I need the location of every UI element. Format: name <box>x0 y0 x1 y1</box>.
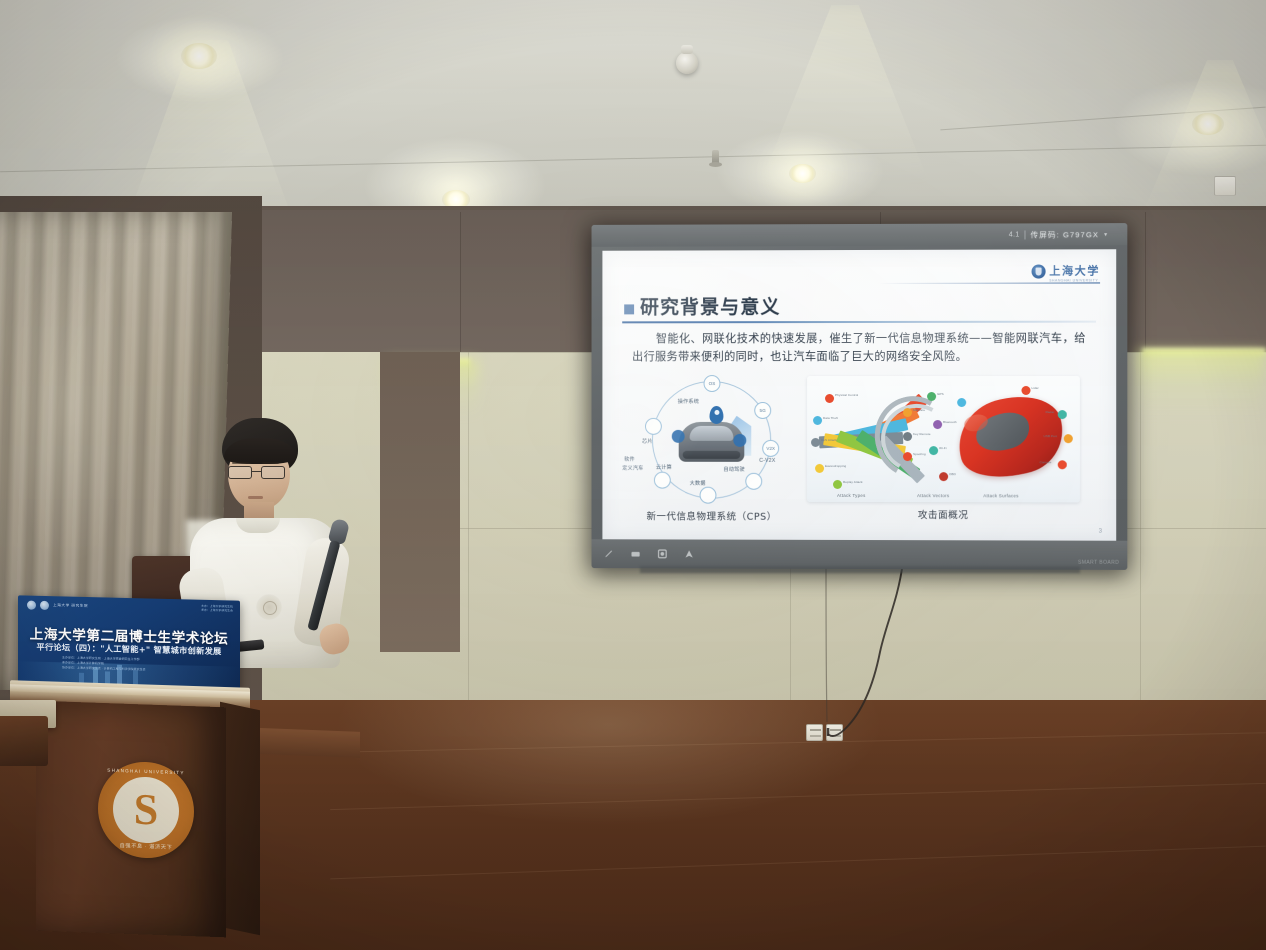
cps-label-cloud: 云计算 <box>656 464 672 471</box>
display-brand-tag: SMART BOARD <box>1078 560 1119 566</box>
hair-fringe <box>224 438 296 464</box>
cursor-icon[interactable] <box>684 548 695 559</box>
ceiling-downlight <box>1192 113 1224 135</box>
display-screen[interactable]: 上海大学 SHANGHAI UNIVERSITY 研究背景与意义 智能化、网联化… <box>602 249 1116 540</box>
banner-meta: 主办单位：上海大学研究生院 · 上海大学党委研究生工作部 承办单位：上海大学计算… <box>62 655 146 672</box>
attack-node-dot <box>903 432 912 441</box>
attack-label: Console <box>1040 460 1052 464</box>
attack-node-dot <box>813 416 822 425</box>
header-rule <box>879 282 1100 284</box>
podium: 上海大学 研究生院 主办：上海大学研究生院 承办：上海大学研究生会 上海大学第二… <box>0 588 356 950</box>
banner-left-logos: 上海大学 研究生院 <box>27 601 88 611</box>
attack-node-dot <box>933 420 942 429</box>
side-chair <box>0 716 48 766</box>
display-status-bar: 4.1 传屏码: G797GX ▾ <box>592 223 1128 247</box>
led-glow <box>1136 350 1266 416</box>
attack-axis-label: Attack Types <box>837 493 866 498</box>
shanghai-university-emblem-icon <box>1031 265 1045 279</box>
pen-icon[interactable] <box>603 548 614 559</box>
attack-label: Physical Control <box>835 393 858 397</box>
slide-figures: OS 5G V2X 操作系统 芯片 软件 定义汽车 云计算 <box>618 376 1100 524</box>
wall-panel-seam <box>460 212 461 362</box>
attack-node-dot <box>815 464 824 473</box>
ceiling-downlight <box>181 43 217 69</box>
attack-node-dot <box>929 446 938 455</box>
glasses-lens <box>228 466 252 479</box>
wall-column <box>380 352 460 652</box>
cps-node-chip <box>645 418 662 435</box>
cps-node-bigdata <box>700 487 717 504</box>
seal-inner-disc: S <box>113 776 179 844</box>
attack-label: Wi-Fi <box>939 446 947 450</box>
ceiling-downlight <box>789 164 816 183</box>
attack-node-dot <box>1064 434 1073 443</box>
cast-code-label: 传屏码: G797GX <box>1031 229 1099 240</box>
figure-attack-surface: Physical Control Data Theft DoS Attack E… <box>807 376 1080 522</box>
attack-label: Replay Attack <box>843 480 863 484</box>
attack-label: Eavesdropping <box>825 464 846 468</box>
university-logo: 上海大学 SHANGHAI UNIVERSITY <box>1031 261 1100 282</box>
forum-banner: 上海大学 研究生院 主办：上海大学研究生院 承办：上海大学研究生会 上海大学第二… <box>18 595 240 692</box>
signal-strength-label: 4.1 <box>1009 231 1020 238</box>
attack-node-dot <box>903 408 912 417</box>
attack-node-dot <box>1021 386 1030 395</box>
cps-label-autodrive: 自动驾驶 <box>723 466 744 473</box>
wall-outlet[interactable] <box>826 724 843 741</box>
figure-cps: OS 5G V2X 操作系统 芯片 软件 定义汽车 云计算 <box>624 376 799 523</box>
slide-title-row: 研究背景与意义 <box>618 291 1100 319</box>
cps-badge-wheel <box>733 434 746 447</box>
slide-body-text: 智能化、网联化技术的快速发展，催生了新一代信息物理系统——智能网联汽车，给出行服… <box>632 329 1086 366</box>
attack-label: OBD <box>949 472 956 476</box>
motion-sensor-icon <box>1214 176 1236 196</box>
attack-node-dot <box>825 394 834 403</box>
smart-display[interactable]: 4.1 传屏码: G797GX ▾ 上海大学 SHANGHAI UNIVERSI… <box>592 223 1128 570</box>
attack-axis-label: Attack Vectors <box>917 493 949 498</box>
attack-node-dot <box>957 398 966 407</box>
cps-label-chip: 芯片 <box>642 438 653 445</box>
shapes-icon[interactable] <box>657 548 668 559</box>
eraser-icon[interactable] <box>630 548 641 559</box>
seal-monogram: S <box>134 788 158 833</box>
attack-label: Bluetooth <box>943 420 957 424</box>
attack-label: DoS Attack <box>821 438 837 442</box>
cps-label-v2x: C-V2X <box>759 458 775 464</box>
attack-surface-diagram: Physical Control Data Theft DoS Attack E… <box>807 376 1080 503</box>
attack-label: GPS <box>937 392 944 396</box>
slide-number: 3 <box>1099 529 1102 535</box>
cps-node-autodrive <box>745 473 762 490</box>
glasses-bridge <box>252 471 261 472</box>
attack-label: Key Remote <box>913 432 931 436</box>
attack-label: Spoofing <box>913 452 926 456</box>
cps-label-sdv: 定义汽车 <box>622 465 643 472</box>
display-mount-bar <box>640 566 1080 573</box>
attack-node-dot <box>811 438 820 447</box>
status-separator <box>1025 230 1026 239</box>
cps-node-v2x: V2X <box>762 440 779 457</box>
figure-caption-cps: 新一代信息物理系统（CPS） <box>646 508 776 522</box>
cps-node-os: OS <box>704 375 721 392</box>
attack-label: Data Theft <box>823 416 838 420</box>
chevron-down-icon[interactable]: ▾ <box>1104 231 1107 238</box>
slide-header: 上海大学 SHANGHAI UNIVERSITY <box>618 257 1100 288</box>
podium-side-panel <box>220 702 260 936</box>
attack-label: Malware <box>913 408 925 412</box>
banner-right-text: 主办：上海大学研究生院 承办：上海大学研究生会 <box>201 605 233 614</box>
banner-emblem-icon <box>27 601 36 610</box>
eyebrow <box>262 462 279 464</box>
attack-node-dot <box>903 452 912 461</box>
glasses-lens <box>261 466 285 479</box>
smoke-detector-icon <box>676 52 698 74</box>
conference-photo-scene: 4.1 传屏码: G797GX ▾ 上海大学 SHANGHAI UNIVERSI… <box>0 0 1266 950</box>
sprinkler-head-icon <box>712 150 719 165</box>
attack-node-dot <box>927 392 936 401</box>
cps-label-software: 软件 <box>624 456 635 463</box>
university-name: 上海大学 <box>1049 265 1100 277</box>
cps-badge-eye <box>672 430 685 443</box>
figure-caption-attack: 攻击面概况 <box>918 507 969 521</box>
banner-emblem-icon <box>40 601 49 610</box>
cps-node-cloud <box>654 472 671 489</box>
powerpoint-slide: 上海大学 SHANGHAI UNIVERSITY 研究背景与意义 智能化、网联化… <box>602 249 1116 540</box>
attack-node-dot <box>1058 460 1067 469</box>
mouth <box>248 496 263 499</box>
eyebrow <box>232 462 249 464</box>
wall-outlet[interactable] <box>806 724 823 741</box>
title-underline <box>622 321 1096 323</box>
cps-diagram: OS 5G V2X 操作系统 芯片 软件 定义汽车 云计算 <box>624 376 799 504</box>
attack-label: USB Port <box>1044 434 1057 438</box>
cps-label-bigdata: 大数据 <box>690 480 706 487</box>
attack-axis-label: Attack Surfaces <box>983 493 1018 498</box>
attack-node-dot <box>1058 410 1067 419</box>
banner-left-logo-text: 上海大学 研究生院 <box>53 603 88 609</box>
attack-label: Radar <box>1046 410 1055 414</box>
university-subtitle: SHANGHAI UNIVERSITY <box>1049 278 1100 282</box>
attack-label: Lidar <box>1032 386 1039 390</box>
banner-right-line: 承办：上海大学研究生会 <box>201 609 233 614</box>
cps-label-os: 操作系统 <box>678 398 699 405</box>
glasses-icon <box>228 466 292 479</box>
attack-node-dot <box>833 480 842 489</box>
title-bullet-square <box>624 304 634 314</box>
location-pin-icon <box>709 406 723 424</box>
slide-title: 研究背景与意义 <box>640 292 781 319</box>
attack-node-dot <box>939 472 948 481</box>
cps-node-5g: 5G <box>754 402 771 419</box>
floor-reflection <box>330 700 950 950</box>
